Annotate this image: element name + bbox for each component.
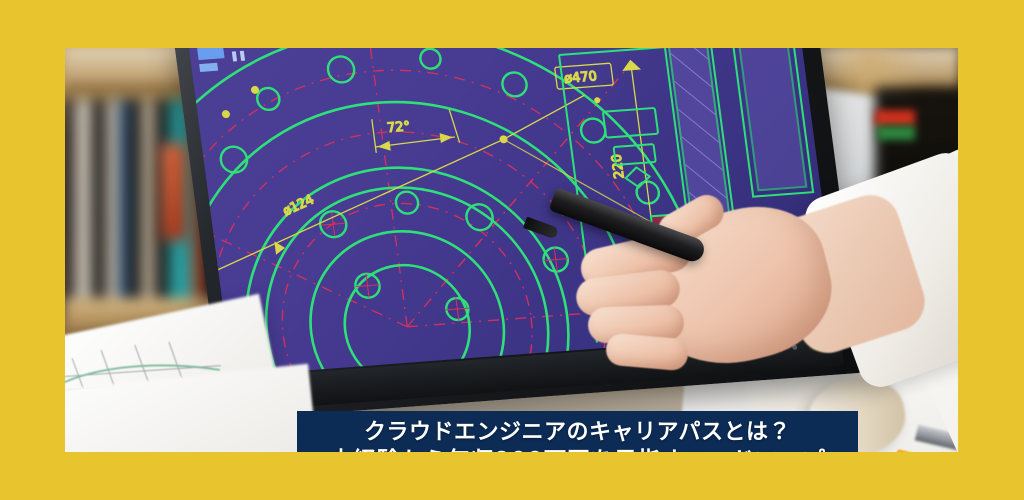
title-line-1: クラウドエンジニアのキャリアパスとは？: [364, 420, 791, 446]
red-book-tab: [875, 110, 915, 126]
title-line-2: 未経験から年収900万円を目指すロードマップ: [329, 448, 825, 452]
svg-text:220: 220: [609, 153, 627, 179]
svg-text:ø124: ø124: [281, 192, 317, 219]
svg-text:72°: 72°: [386, 119, 411, 136]
hand-with-stylus: [570, 178, 900, 418]
green-book-tab: [877, 126, 915, 140]
hero-photo: 72° ø124 ø470 220: [65, 48, 958, 452]
toolbar-hud: [197, 48, 246, 72]
little-finger: [605, 332, 689, 371]
svg-text:ø470: ø470: [563, 69, 598, 86]
title-banner: クラウドエンジニアのキャリアパスとは？ 未経験から年収900万円を目指すロードマ…: [297, 411, 858, 452]
thumbnail-frame: 72° ø124 ø470 220: [0, 0, 1024, 500]
snap-points: [219, 60, 605, 164]
